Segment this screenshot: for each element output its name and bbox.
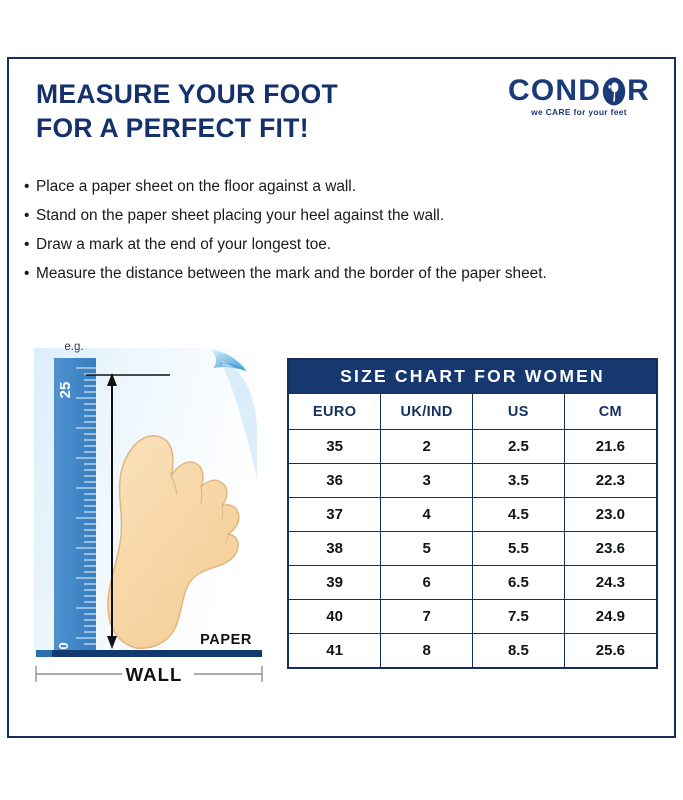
cell-euro: 39 <box>289 566 381 600</box>
table-row: 41 8 8.5 25.6 <box>289 634 656 668</box>
cell-us: 6.5 <box>473 566 565 600</box>
list-item-text: Draw a mark at the end of your longest t… <box>36 236 331 253</box>
table-row: 38 5 5.5 23.6 <box>289 532 656 566</box>
paper-label: PAPER <box>200 632 252 648</box>
table-header-row: EURO UK/IND US CM <box>289 394 656 430</box>
column-header-euro: EURO <box>289 394 381 430</box>
bullet-marker-icon: • <box>24 172 29 201</box>
size-chart: SIZE CHART FOR WOMEN EURO UK/IND US CM 3… <box>287 358 658 669</box>
ruler-top-label: 25 <box>57 382 74 399</box>
ruler: 25 0 <box>54 358 96 652</box>
table-row: 35 2 2.5 21.6 <box>289 430 656 464</box>
list-item: • Place a paper sheet on the floor again… <box>24 172 648 201</box>
table-row: 37 4 4.5 23.0 <box>289 498 656 532</box>
cell-cm: 24.9 <box>564 600 656 634</box>
cell-euro: 40 <box>289 600 381 634</box>
cell-us: 3.5 <box>473 464 565 498</box>
list-item: • Measure the distance between the mark … <box>24 259 648 288</box>
cell-cm: 21.6 <box>564 430 656 464</box>
page-title-line-2: FOR A PERFECT FIT! <box>36 112 456 146</box>
table-row: 36 3 3.5 22.3 <box>289 464 656 498</box>
cell-cm: 23.6 <box>564 532 656 566</box>
wall-bar <box>36 650 262 657</box>
column-header-us: US <box>473 394 565 430</box>
cell-euro: 35 <box>289 430 381 464</box>
cell-cm: 22.3 <box>564 464 656 498</box>
list-item-text: Stand on the paper sheet placing your he… <box>36 207 444 224</box>
size-guide-infographic: MEASURE YOUR FOOT FOR A PERFECT FIT! CON… <box>0 0 683 800</box>
wall-label: WALL <box>126 664 183 685</box>
cell-us: 2.5 <box>473 430 565 464</box>
bullet-marker-icon: • <box>24 259 29 288</box>
foot-o-icon <box>602 77 626 106</box>
list-item-text: Measure the distance between the mark an… <box>36 265 547 282</box>
bullet-marker-icon: • <box>24 201 29 230</box>
eg-label: e.g. <box>64 341 83 353</box>
cell-euro: 37 <box>289 498 381 532</box>
cell-euro: 36 <box>289 464 381 498</box>
table-row: 40 7 7.5 24.9 <box>289 600 656 634</box>
list-item: • Draw a mark at the end of your longest… <box>24 230 648 259</box>
instructions-list: • Place a paper sheet on the floor again… <box>24 172 648 288</box>
size-chart-table: EURO UK/IND US CM 35 2 2.5 21.6 36 3 3.5 <box>289 393 656 667</box>
cell-ukind: 8 <box>381 634 473 668</box>
list-item-text: Place a paper sheet on the floor against… <box>36 178 356 195</box>
cell-cm: 23.0 <box>564 498 656 532</box>
list-item: • Stand on the paper sheet placing your … <box>24 201 648 230</box>
page-title-line-1: MEASURE YOUR FOOT <box>36 78 456 112</box>
cell-euro: 38 <box>289 532 381 566</box>
table-row: 39 6 6.5 24.3 <box>289 566 656 600</box>
cell-ukind: 3 <box>381 464 473 498</box>
cell-ukind: 2 <box>381 430 473 464</box>
cell-us: 5.5 <box>473 532 565 566</box>
brand-name-part-2: R <box>627 76 650 106</box>
brand-tagline: we CARE for your feet <box>498 107 660 117</box>
cell-us: 7.5 <box>473 600 565 634</box>
brand-wordmark: COND R <box>498 76 660 106</box>
brand-name-part-1: COND <box>508 76 601 106</box>
cell-us: 4.5 <box>473 498 565 532</box>
cell-cm: 25.6 <box>564 634 656 668</box>
page-title: MEASURE YOUR FOOT FOR A PERFECT FIT! <box>36 78 456 146</box>
cell-ukind: 6 <box>381 566 473 600</box>
cell-ukind: 5 <box>381 532 473 566</box>
brand-logo: COND R we CARE for your feet <box>498 76 660 124</box>
cell-cm: 24.3 <box>564 566 656 600</box>
cell-ukind: 7 <box>381 600 473 634</box>
size-chart-title: SIZE CHART FOR WOMEN <box>289 360 656 393</box>
cell-ukind: 4 <box>381 498 473 532</box>
cell-euro: 41 <box>289 634 381 668</box>
cell-us: 8.5 <box>473 634 565 668</box>
ruler-bottom-label: 0 <box>56 642 71 649</box>
foot-measurement-diagram: 25 0 PAPER W <box>24 330 274 690</box>
column-header-cm: CM <box>564 394 656 430</box>
bullet-marker-icon: • <box>24 230 29 259</box>
column-header-ukind: UK/IND <box>381 394 473 430</box>
